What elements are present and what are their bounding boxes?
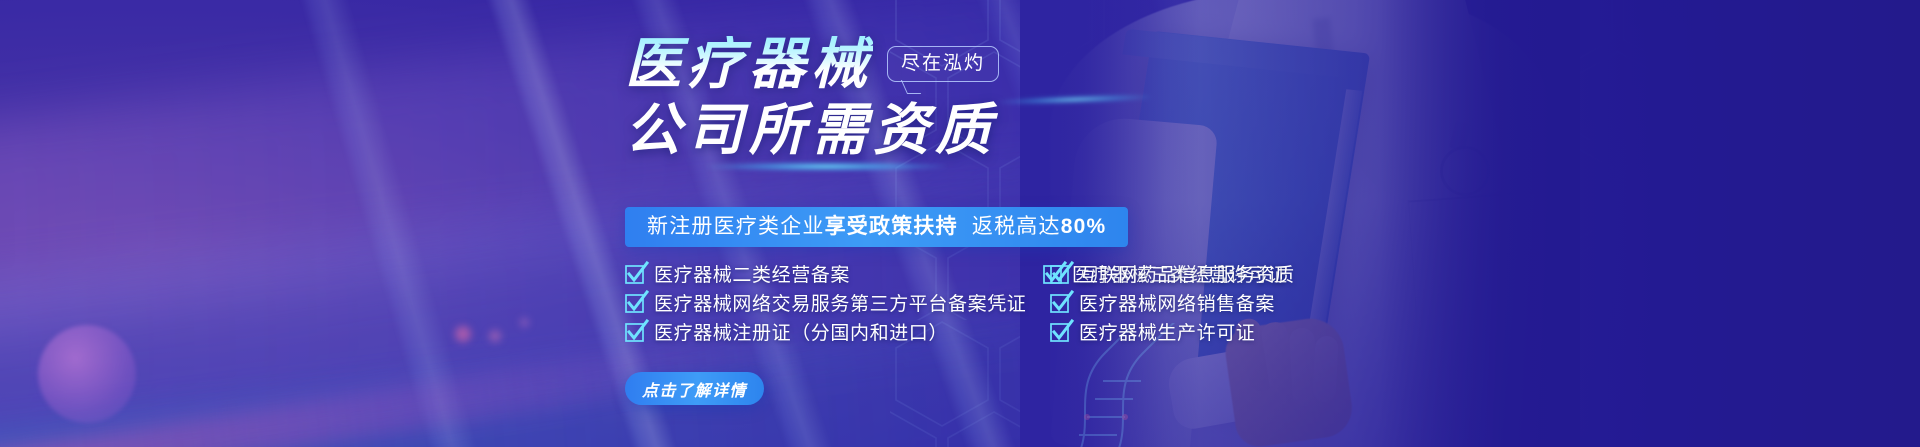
headline-block: 医疗器械 尽在泓灼 公司所需资质: [625, 36, 999, 160]
medical-device-qualification-banner: 医疗器械 尽在泓灼 公司所需资质 新注册医疗类企业享受政策扶持 返税高达80%: [0, 0, 1920, 447]
checkbox-checked-icon: [1050, 266, 1069, 285]
checkbox-checked-icon: [625, 295, 644, 314]
promo-subtitle-bar: 新注册医疗类企业享受政策扶持 返税高达80%: [625, 207, 1128, 247]
title-underglow: [706, 162, 946, 171]
checklist-label: 医疗器械二类经营备案: [654, 266, 850, 285]
checklist-entry[interactable]: 医疗器械二类经营备案: [625, 266, 1043, 285]
brand-badge-bubble: 尽在泓灼: [887, 46, 999, 82]
checkbox-checked-icon: [1050, 295, 1069, 314]
checklist-label: 医疗器械网络销售备案: [1079, 295, 1275, 314]
checklist-label: 医疗器械注册证（分国内和进口）: [654, 324, 948, 343]
cta-button[interactable]: 点击了解详情: [625, 372, 764, 405]
checklist-label: 医疗器械生产许可证: [1079, 324, 1255, 343]
checklist-entry[interactable]: 医疗器械注册证（分国内和进口）: [625, 324, 1043, 343]
qualification-checklist-right: 互联网药品信息服务资质 医疗器械网络销售备案 医疗器械生产许可证: [1050, 266, 1295, 353]
checklist-entry[interactable]: 互联网药品信息服务资质: [1050, 266, 1295, 285]
promo-part3: 返税高达: [972, 215, 1061, 238]
checklist-entry[interactable]: 医疗器械网络销售备案: [1050, 295, 1275, 314]
title-sideglow: [1000, 93, 1150, 105]
list-item: 医疗器械网络销售备案: [1050, 295, 1295, 314]
list-item: 医疗器械生产许可证: [1050, 324, 1295, 343]
checklist-label: 互联网药品信息服务资质: [1079, 266, 1295, 285]
checklist-entry[interactable]: 医疗器械网络交易服务第三方平台备案凭证: [625, 295, 1043, 314]
checkbox-checked-icon: [625, 266, 644, 285]
promo-part1: 新注册医疗类企业: [647, 215, 825, 238]
checklist-entry[interactable]: 医疗器械生产许可证: [1050, 324, 1255, 343]
promo-part2: 享受政策扶持: [825, 215, 958, 238]
checkbox-checked-icon: [1050, 324, 1069, 343]
promo-part4: 80%: [1061, 215, 1107, 238]
brand-badge-label: 尽在泓灼: [901, 53, 985, 74]
checklist-label: 医疗器械网络交易服务第三方平台备案凭证: [654, 295, 1026, 314]
page-title-line2: 公司所需资质: [625, 100, 999, 160]
list-item: 互联网药品信息服务资质: [1050, 266, 1295, 285]
page-title-line1: 医疗器械: [625, 36, 873, 92]
checkbox-checked-icon: [625, 324, 644, 343]
